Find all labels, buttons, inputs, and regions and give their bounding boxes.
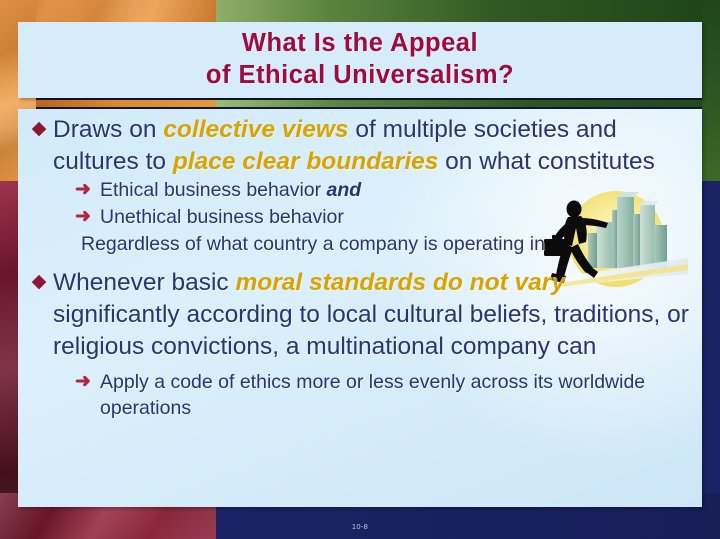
sub-bullet-item: ➜ Unethical business behavior bbox=[25, 205, 692, 231]
sub-bullet-item: ➜ Apply a code of ethics more or less ev… bbox=[25, 370, 692, 422]
divider-green-segment bbox=[216, 100, 702, 107]
title-divider bbox=[36, 100, 702, 107]
divider-orange-segment bbox=[36, 100, 216, 107]
sub-bullet-text: Ethical business behavior and bbox=[100, 178, 692, 204]
highlight-run: collective views bbox=[163, 116, 348, 143]
emphasis-run: and bbox=[327, 179, 362, 201]
arrow-bullet-icon: ➜ bbox=[75, 205, 100, 230]
spacer bbox=[25, 260, 692, 267]
bullet-item: ◆ Whenever basic moral standards do not … bbox=[25, 267, 692, 362]
presentation-slide: What Is the Appeal of Ethical Universali… bbox=[0, 0, 720, 539]
sub-bullet-text: Unethical business behavior bbox=[100, 205, 692, 231]
text-run: Whenever basic bbox=[53, 269, 235, 296]
text-run: Ethical business behavior bbox=[100, 179, 327, 201]
bullet-item: ◆ Draws on collective views of multiple … bbox=[25, 114, 692, 177]
right-green-band bbox=[702, 0, 720, 181]
bullet-text: Whenever basic moral standards do not va… bbox=[53, 267, 692, 362]
slide-content-list: ◆ Draws on collective views of multiple … bbox=[18, 109, 702, 423]
diamond-bullet-icon: ◆ bbox=[25, 267, 53, 298]
slide-title: What Is the Appeal of Ethical Universali… bbox=[206, 28, 514, 92]
sub-bullet-text: Apply a code of ethics more or less even… bbox=[100, 370, 692, 422]
diamond-bullet-icon: ◆ bbox=[25, 114, 53, 145]
top-green-band bbox=[216, 0, 720, 22]
bullet-text: Draws on collective views of multiple so… bbox=[53, 114, 692, 177]
text-run: on what constitutes bbox=[438, 148, 655, 175]
text-run: significantly according to local cultura… bbox=[53, 301, 689, 360]
text-run: Draws on bbox=[53, 116, 163, 143]
title-panel: What Is the Appeal of Ethical Universali… bbox=[18, 22, 702, 98]
arrow-bullet-icon: ➜ bbox=[75, 370, 100, 395]
right-navy-band bbox=[702, 181, 720, 539]
arrow-bullet-icon: ➜ bbox=[75, 178, 100, 203]
sub-bullet-item: ➜ Ethical business behavior and bbox=[25, 178, 692, 204]
sub-note-text: Regardless of what country a company is … bbox=[25, 232, 692, 258]
spacer bbox=[25, 363, 692, 370]
slide-number: 10-8 bbox=[0, 522, 720, 531]
highlight-run: moral standards do not vary bbox=[235, 269, 564, 296]
body-panel: ◆ Draws on collective views of multiple … bbox=[18, 109, 702, 507]
highlight-run: place clear boundaries bbox=[173, 148, 439, 175]
